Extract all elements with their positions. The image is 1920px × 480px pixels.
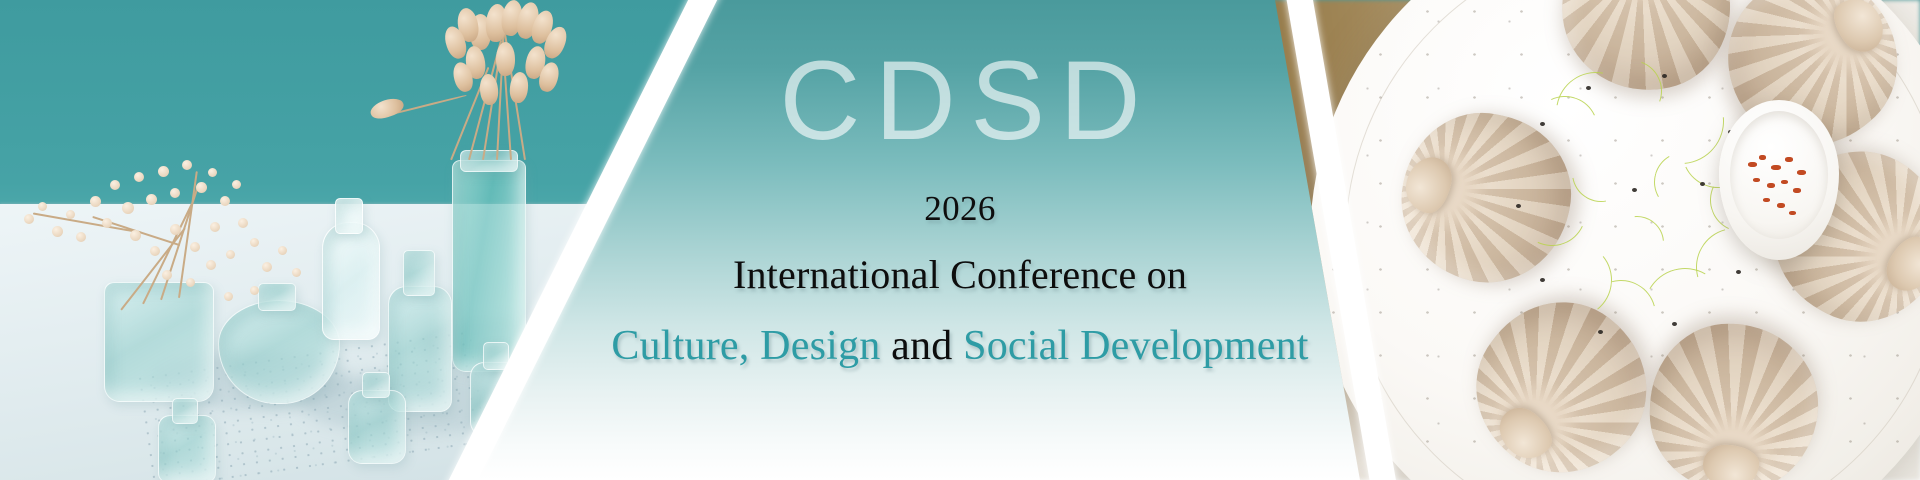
small-bottle-neck: [172, 398, 198, 424]
chili-flake: [1789, 211, 1796, 215]
chili-flake: [1763, 198, 1770, 202]
gypsophila-bouquet: [10, 110, 320, 305]
chili-flake: [1781, 180, 1788, 184]
chili-flake: [1777, 203, 1785, 208]
tall-ribbed-vase: [452, 160, 526, 372]
chili-flake: [1785, 157, 1793, 162]
white-sauce: [1730, 111, 1828, 239]
clear-tall-bottle: [322, 222, 380, 340]
small-bottle-front-center: [348, 390, 406, 464]
conference-banner: CDSD 2026 International Conference on Cu…: [0, 0, 1920, 480]
small-bottle-center-neck: [362, 372, 390, 398]
bunny-tail-bouquet: [350, 0, 580, 175]
chili-flake: [1753, 178, 1760, 182]
chili-flake: [1771, 165, 1781, 170]
chili-flake: [1759, 155, 1766, 160]
small-bottle-front-left: [158, 415, 216, 480]
clear-bottle-neck: [335, 198, 363, 234]
chili-flake: [1767, 183, 1775, 188]
chili-flake: [1793, 188, 1801, 193]
white-serving-plate: [1310, 0, 1920, 480]
chili-flake: [1797, 170, 1806, 175]
chili-flake: [1748, 162, 1757, 167]
textured-bottle-neck: [403, 250, 435, 296]
